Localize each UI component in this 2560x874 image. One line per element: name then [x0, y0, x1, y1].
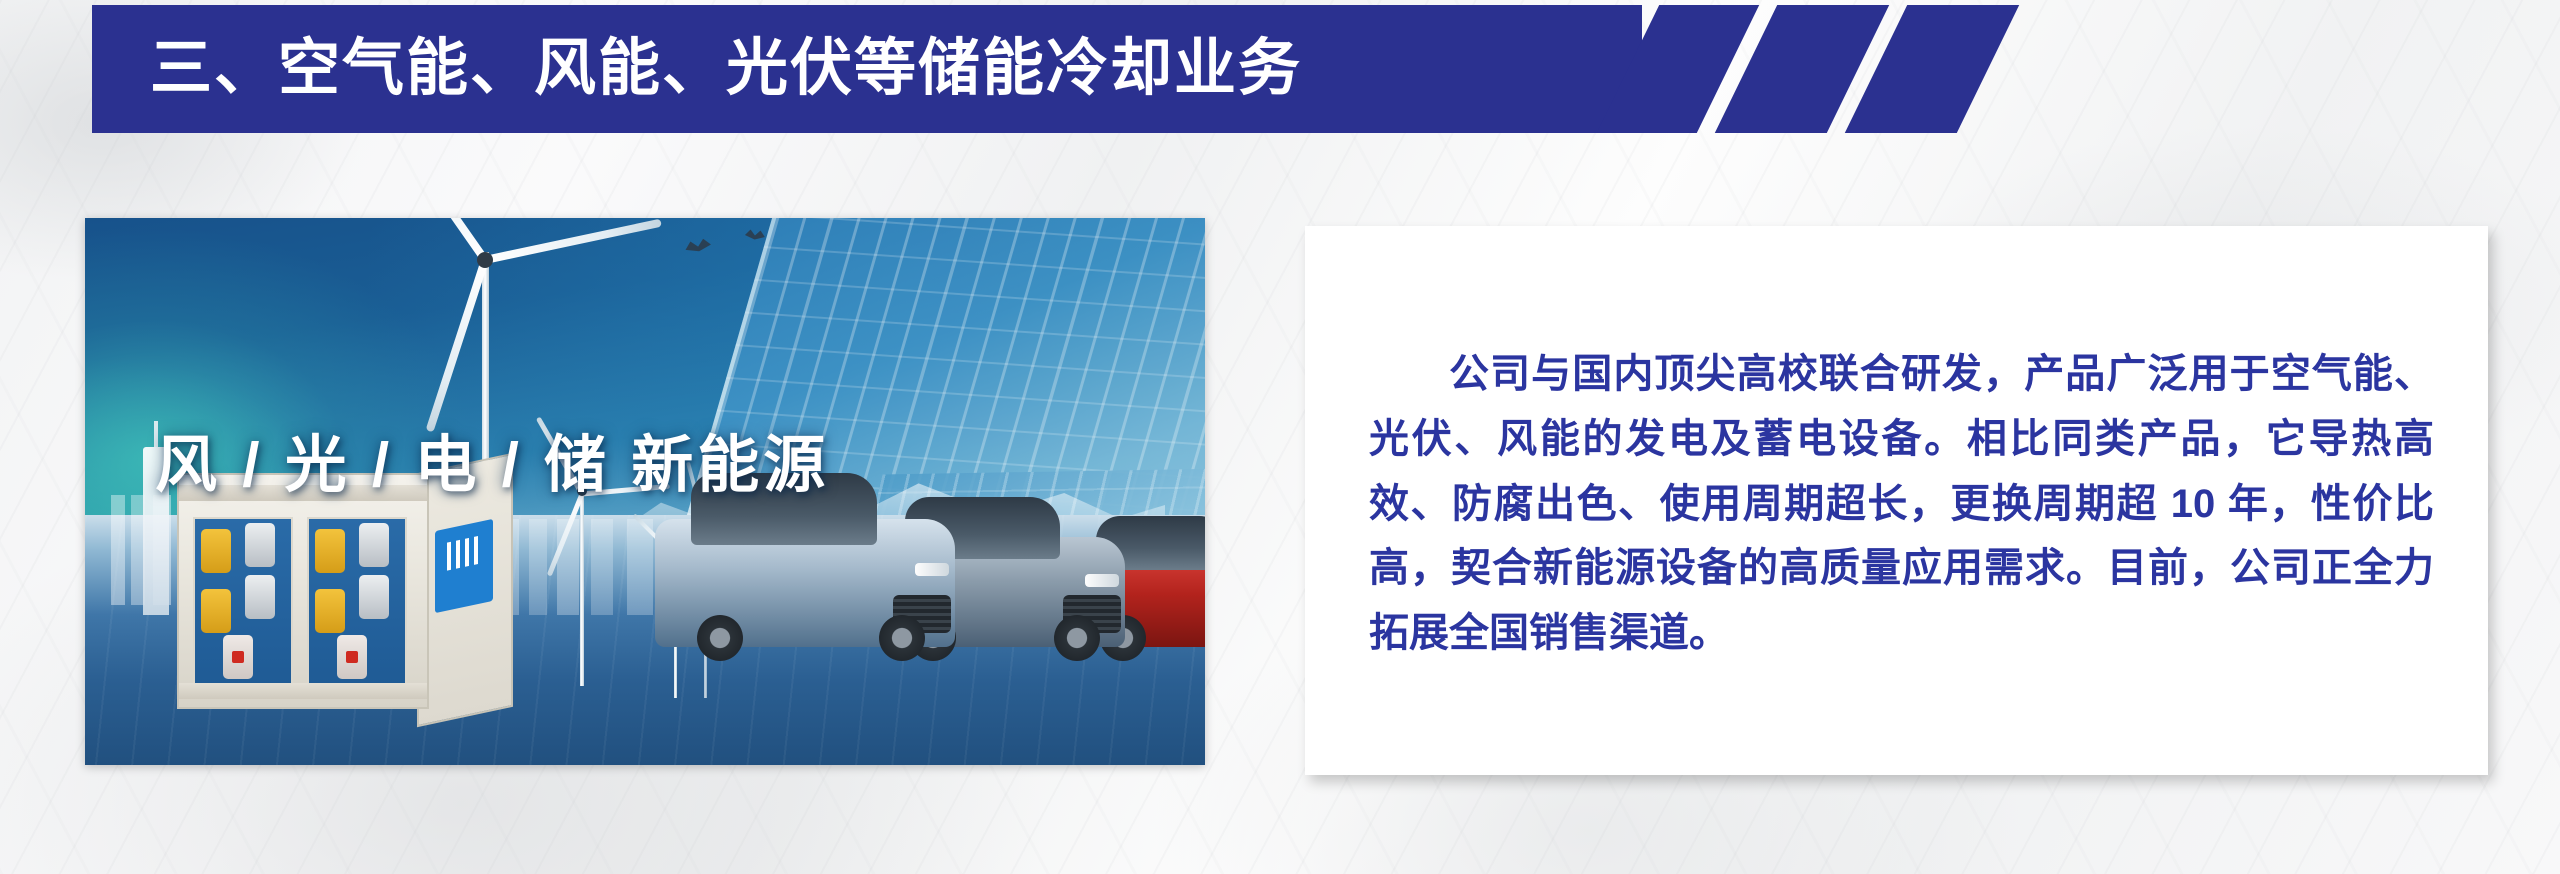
turbine-blade: [547, 493, 585, 576]
container-front-face: [177, 473, 429, 709]
description-card: 公司与国内顶尖高校联合研发，产品广泛用于空气能、光伏、风能的发电及蓄电设备。相比…: [1305, 226, 2488, 775]
electric-vehicle: [655, 519, 955, 647]
turbine-hub: [477, 252, 493, 268]
description-card-body: 公司与国内顶尖高校联合研发，产品广泛用于空气能、光伏、风能的发电及蓄电设备。相比…: [1369, 302, 2434, 706]
slide-canvas: 三、空气能、风能、光伏等储能冷却业务: [0, 0, 2560, 874]
vehicle-wheel: [879, 615, 925, 661]
description-paragraph: 公司与国内顶尖高校联合研发，产品广泛用于空气能、光伏、风能的发电及蓄电设备。相比…: [1369, 342, 2434, 666]
section-title-bar: 三、空气能、风能、光伏等储能冷却业务: [92, 5, 1947, 133]
container-brand-logo: [435, 519, 493, 613]
headlight-icon: [915, 563, 949, 576]
headlight-icon: [1085, 574, 1119, 587]
battery-cylinder: [201, 589, 231, 633]
wind-turbine-icon: [540, 486, 624, 686]
turbine-blade: [426, 259, 489, 433]
promo-image-headline: 风 / 光 / 电 / 储 新能源: [155, 414, 829, 504]
battery-cylinder: [359, 575, 389, 619]
battery-cylinder: [315, 529, 345, 573]
battery-cylinder: [223, 635, 253, 679]
battery-bay: [193, 517, 293, 687]
battery-cylinder: [359, 523, 389, 567]
section-title-text: 三、空气能、风能、光伏等储能冷却业务: [150, 38, 1302, 100]
vehicle-wheel: [697, 615, 743, 661]
battery-cylinder: [315, 589, 345, 633]
vehicle-wheel: [1054, 615, 1100, 661]
battery-bay: [307, 517, 407, 687]
container-bottom-strip: [179, 683, 427, 699]
turbine-mast: [580, 486, 584, 686]
battery-cylinder: [245, 523, 275, 567]
promo-image-panel: 风 / 光 / 电 / 储 新能源: [85, 218, 1205, 765]
battery-cylinder: [201, 529, 231, 573]
battery-cylinder: [337, 635, 367, 679]
battery-cylinder: [245, 575, 275, 619]
